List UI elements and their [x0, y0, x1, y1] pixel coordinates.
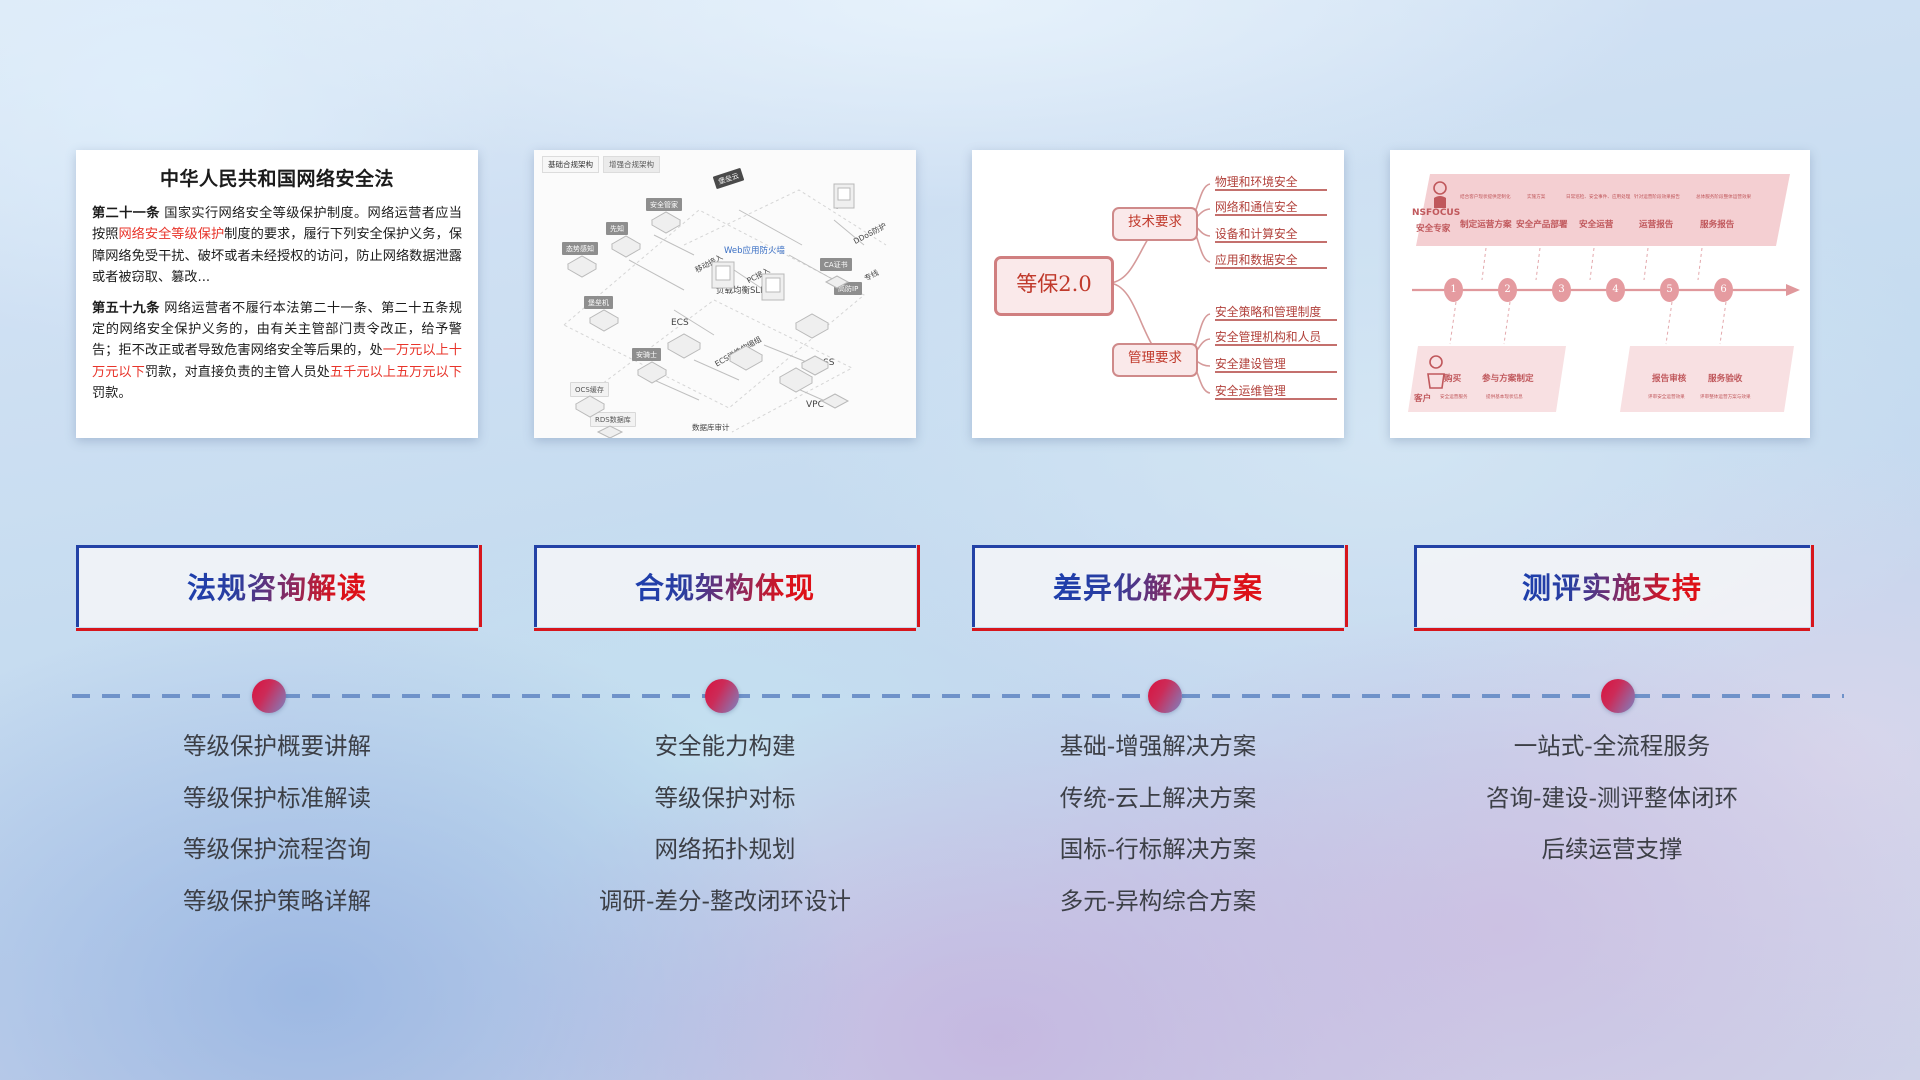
list-item: 安全能力构建	[534, 735, 916, 759]
roadmap-bottom-sub-4: 评审整体运营方案与效果	[1700, 394, 1751, 400]
timeline-dot-3[interactable]	[1148, 679, 1182, 713]
title-box-compliance-architecture[interactable]: 合规架构体现	[534, 545, 916, 627]
detail-list-differentiated-solution: 基础-增强解决方案 传统-云上解决方案 国标-行标解决方案 多元-异构综合方案	[972, 735, 1344, 941]
roadmap-top-sub-3: 日常巡检、安全事件、应用处理	[1566, 194, 1630, 200]
title-box-border-right	[1811, 545, 1814, 627]
title-box-border-bottom	[76, 628, 478, 631]
mindmap-branch-technical[interactable]: 技术要求	[1112, 207, 1198, 241]
timeline-dot-2[interactable]	[705, 679, 739, 713]
mindmap-diagram: 等保2.0 技术要求 管理要求 物理和环境安全 网络和通信安全 设备和计算安全 …	[972, 150, 1344, 438]
mindmap-leaf-app-data: 应用和数据安全	[1215, 251, 1298, 268]
law-article-59: 第五十九条 网络运营者不履行本法第二十一条、第二十五条规定的网络安全保护义务的，…	[92, 298, 462, 405]
mindmap-branch-management[interactable]: 管理要求	[1112, 343, 1198, 377]
mindmap-root-node[interactable]: 等保2.0	[994, 256, 1114, 316]
timeline-dot-1[interactable]	[252, 679, 286, 713]
roadmap-top-title-2: 安全产品部署	[1516, 218, 1568, 230]
title-label: 法规咨询解读	[187, 565, 367, 607]
mindmap-underline	[1215, 267, 1327, 269]
roadmap-vendor-name: NSFOCUS	[1412, 208, 1460, 218]
roadmap-top-sub-5: 总体服务阶段整体运营效果	[1696, 194, 1751, 200]
roadmap-top-title-5: 服务报告	[1700, 218, 1734, 230]
mindmap-leaf-device-compute: 设备和计算安全	[1215, 225, 1298, 242]
timeline-dot-4[interactable]	[1601, 679, 1635, 713]
title-box-border-top	[534, 545, 916, 548]
architecture-device-icons	[534, 150, 916, 438]
roadmap-bottom-title-3: 报告审核	[1652, 372, 1686, 384]
list-item: 等级保护策略详解	[76, 890, 478, 914]
mindmap-underline	[1215, 344, 1337, 346]
mindmap-underline	[1215, 319, 1337, 321]
preview-card-mindmap[interactable]: 等保2.0 技术要求 管理要求 物理和环境安全 网络和通信安全 设备和计算安全 …	[972, 150, 1344, 438]
title-box-differentiated-solution[interactable]: 差异化解决方案	[972, 545, 1344, 627]
title-box-border-left	[972, 545, 975, 627]
title-box-border-bottom	[972, 628, 1344, 631]
law-article-21-highlight: 网络安全等级保护	[118, 227, 224, 242]
preview-card-law[interactable]: 中华人民共和国网络安全法 第二十一条 国家实行网络安全等级保护制度。网络运营者应…	[76, 150, 478, 438]
roadmap-top-sub-4: 针对运营阶段效果报告	[1634, 194, 1680, 200]
title-box-border-top	[76, 545, 478, 548]
list-item: 等级保护标准解读	[76, 787, 478, 811]
mindmap-leaf-org-personnel: 安全管理机构和人员	[1215, 328, 1321, 345]
timeline-dashed-line	[72, 694, 1844, 698]
list-item: 多元-异构综合方案	[972, 890, 1344, 914]
roadmap-bottom-title-2: 参与方案制定	[1482, 372, 1534, 384]
list-item: 传统-云上解决方案	[972, 787, 1344, 811]
roadmap-customer-role: 客户	[1414, 392, 1431, 404]
law-article-59-label: 第五十九条	[92, 301, 160, 316]
list-item: 等级保护概要讲解	[76, 735, 478, 759]
roadmap-top-sub-2: 实施方案	[1527, 194, 1545, 200]
mindmap-underline	[1215, 398, 1337, 400]
roadmap-bottom-sub-3: 评审安全运营效果	[1648, 394, 1685, 400]
roadmap-step-number-6: 6	[1714, 278, 1733, 302]
mindmap-underline	[1215, 241, 1327, 243]
roadmap-diagram: NSFOCUS 安全专家 结合客户现状提供定制化 制定运营方案 实施方案 安全产…	[1390, 150, 1810, 438]
roadmap-top-sub-1: 结合客户现状提供定制化	[1460, 194, 1511, 200]
list-item: 等级保护对标	[534, 787, 916, 811]
preview-card-roadmap[interactable]: NSFOCUS 安全专家 结合客户现状提供定制化 制定运营方案 实施方案 安全产…	[1390, 150, 1810, 438]
detail-list-compliance-architecture: 安全能力构建 等级保护对标 网络拓扑规划 调研-差分-整改闭环设计	[534, 735, 916, 941]
title-box-border-bottom	[534, 628, 916, 631]
mindmap-leaf-network-comm: 网络和通信安全	[1215, 198, 1298, 215]
list-item: 基础-增强解决方案	[972, 735, 1344, 759]
list-item: 后续运营支撑	[1414, 838, 1810, 862]
preview-card-architecture[interactable]: 基础合规架构 增强合规架构	[534, 150, 916, 438]
title-box-border-right	[1345, 545, 1348, 627]
roadmap-step-number-4: 4	[1606, 278, 1625, 302]
list-item: 一站式-全流程服务	[1414, 735, 1810, 759]
law-document: 中华人民共和国网络安全法 第二十一条 国家实行网络安全等级保护制度。网络运营者应…	[76, 150, 478, 438]
roadmap-step-number-5: 5	[1660, 278, 1679, 302]
title-box-border-right	[917, 545, 920, 627]
mindmap-underline	[1215, 214, 1327, 216]
list-item: 网络拓扑规划	[534, 838, 916, 862]
mindmap-leaf-construction-mgmt: 安全建设管理	[1215, 355, 1286, 372]
roadmap-bottom-sub-2: 提供基本现状信息	[1486, 394, 1523, 400]
title-label: 差异化解决方案	[1053, 565, 1263, 607]
list-item: 咨询-建设-测评整体闭环	[1414, 787, 1810, 811]
detail-list-assessment-support: 一站式-全流程服务 咨询-建设-测评整体闭环 后续运营支撑	[1414, 735, 1810, 890]
title-box-regulation-consulting[interactable]: 法规咨询解读	[76, 545, 478, 627]
roadmap-vendor-role: 安全专家	[1416, 222, 1450, 234]
title-box-border-left	[534, 545, 537, 627]
architecture-diagram: 基础合规架构 增强合规架构	[534, 150, 916, 438]
title-box-border-left	[1414, 545, 1417, 627]
title-box-border-top	[972, 545, 1344, 548]
title-label: 测评实施支持	[1522, 565, 1702, 607]
title-box-assessment-support[interactable]: 测评实施支持	[1414, 545, 1810, 627]
law-article-21: 第二十一条 国家实行网络安全等级保护制度。网络运营者应当按照网络安全等级保护制度…	[92, 203, 462, 289]
roadmap-step-number-3: 3	[1552, 278, 1571, 302]
title-box-row: 法规咨询解读 合规架构体现 差异化解决方案 测评实施支持	[0, 545, 1920, 640]
mindmap-underline	[1215, 189, 1327, 191]
law-article-59-text-2: 罚款，对直接负责的主管人员处	[145, 365, 330, 380]
roadmap-top-title-1: 制定运营方案	[1460, 218, 1512, 230]
title-box-border-right	[479, 545, 482, 627]
law-title: 中华人民共和国网络安全法	[92, 164, 462, 191]
preview-card-row: 中华人民共和国网络安全法 第二十一条 国家实行网络安全等级保护制度。网络运营者应…	[0, 0, 1920, 300]
detail-list-regulation-consulting: 等级保护概要讲解 等级保护标准解读 等级保护流程咨询 等级保护策略详解	[76, 735, 478, 941]
title-box-border-left	[76, 545, 79, 627]
mindmap-leaf-policy-system: 安全策略和管理制度	[1215, 303, 1321, 320]
list-item: 国标-行标解决方案	[972, 838, 1344, 862]
title-box-border-bottom	[1414, 628, 1810, 631]
roadmap-top-title-3: 安全运营	[1579, 218, 1613, 230]
mindmap-leaf-physical-env: 物理和环境安全	[1215, 173, 1298, 190]
law-article-21-label: 第二十一条	[92, 206, 160, 221]
mindmap-leaf-ops-mgmt: 安全运维管理	[1215, 382, 1286, 399]
title-label: 合规架构体现	[635, 565, 815, 607]
title-box-border-top	[1414, 545, 1810, 548]
roadmap-step-number-2: 2	[1498, 278, 1517, 302]
list-item: 等级保护流程咨询	[76, 838, 478, 862]
roadmap-bottom-title-1: 购买	[1444, 372, 1461, 384]
roadmap-bottom-title-4: 服务验收	[1708, 372, 1742, 384]
roadmap-bottom-sub-1: 安全运营服务	[1440, 394, 1468, 400]
roadmap-step-number-1: 1	[1444, 278, 1463, 302]
roadmap-top-title-4: 运营报告	[1639, 218, 1673, 230]
mindmap-underline	[1215, 371, 1337, 373]
law-article-59-text-3: 罚款。	[92, 386, 132, 401]
law-article-59-highlight-2: 五千元以上五万元以下	[330, 365, 462, 380]
list-item: 调研-差分-整改闭环设计	[534, 890, 916, 914]
slide-stage: 中华人民共和国网络安全法 第二十一条 国家实行网络安全等级保护制度。网络运营者应…	[0, 0, 1920, 1080]
